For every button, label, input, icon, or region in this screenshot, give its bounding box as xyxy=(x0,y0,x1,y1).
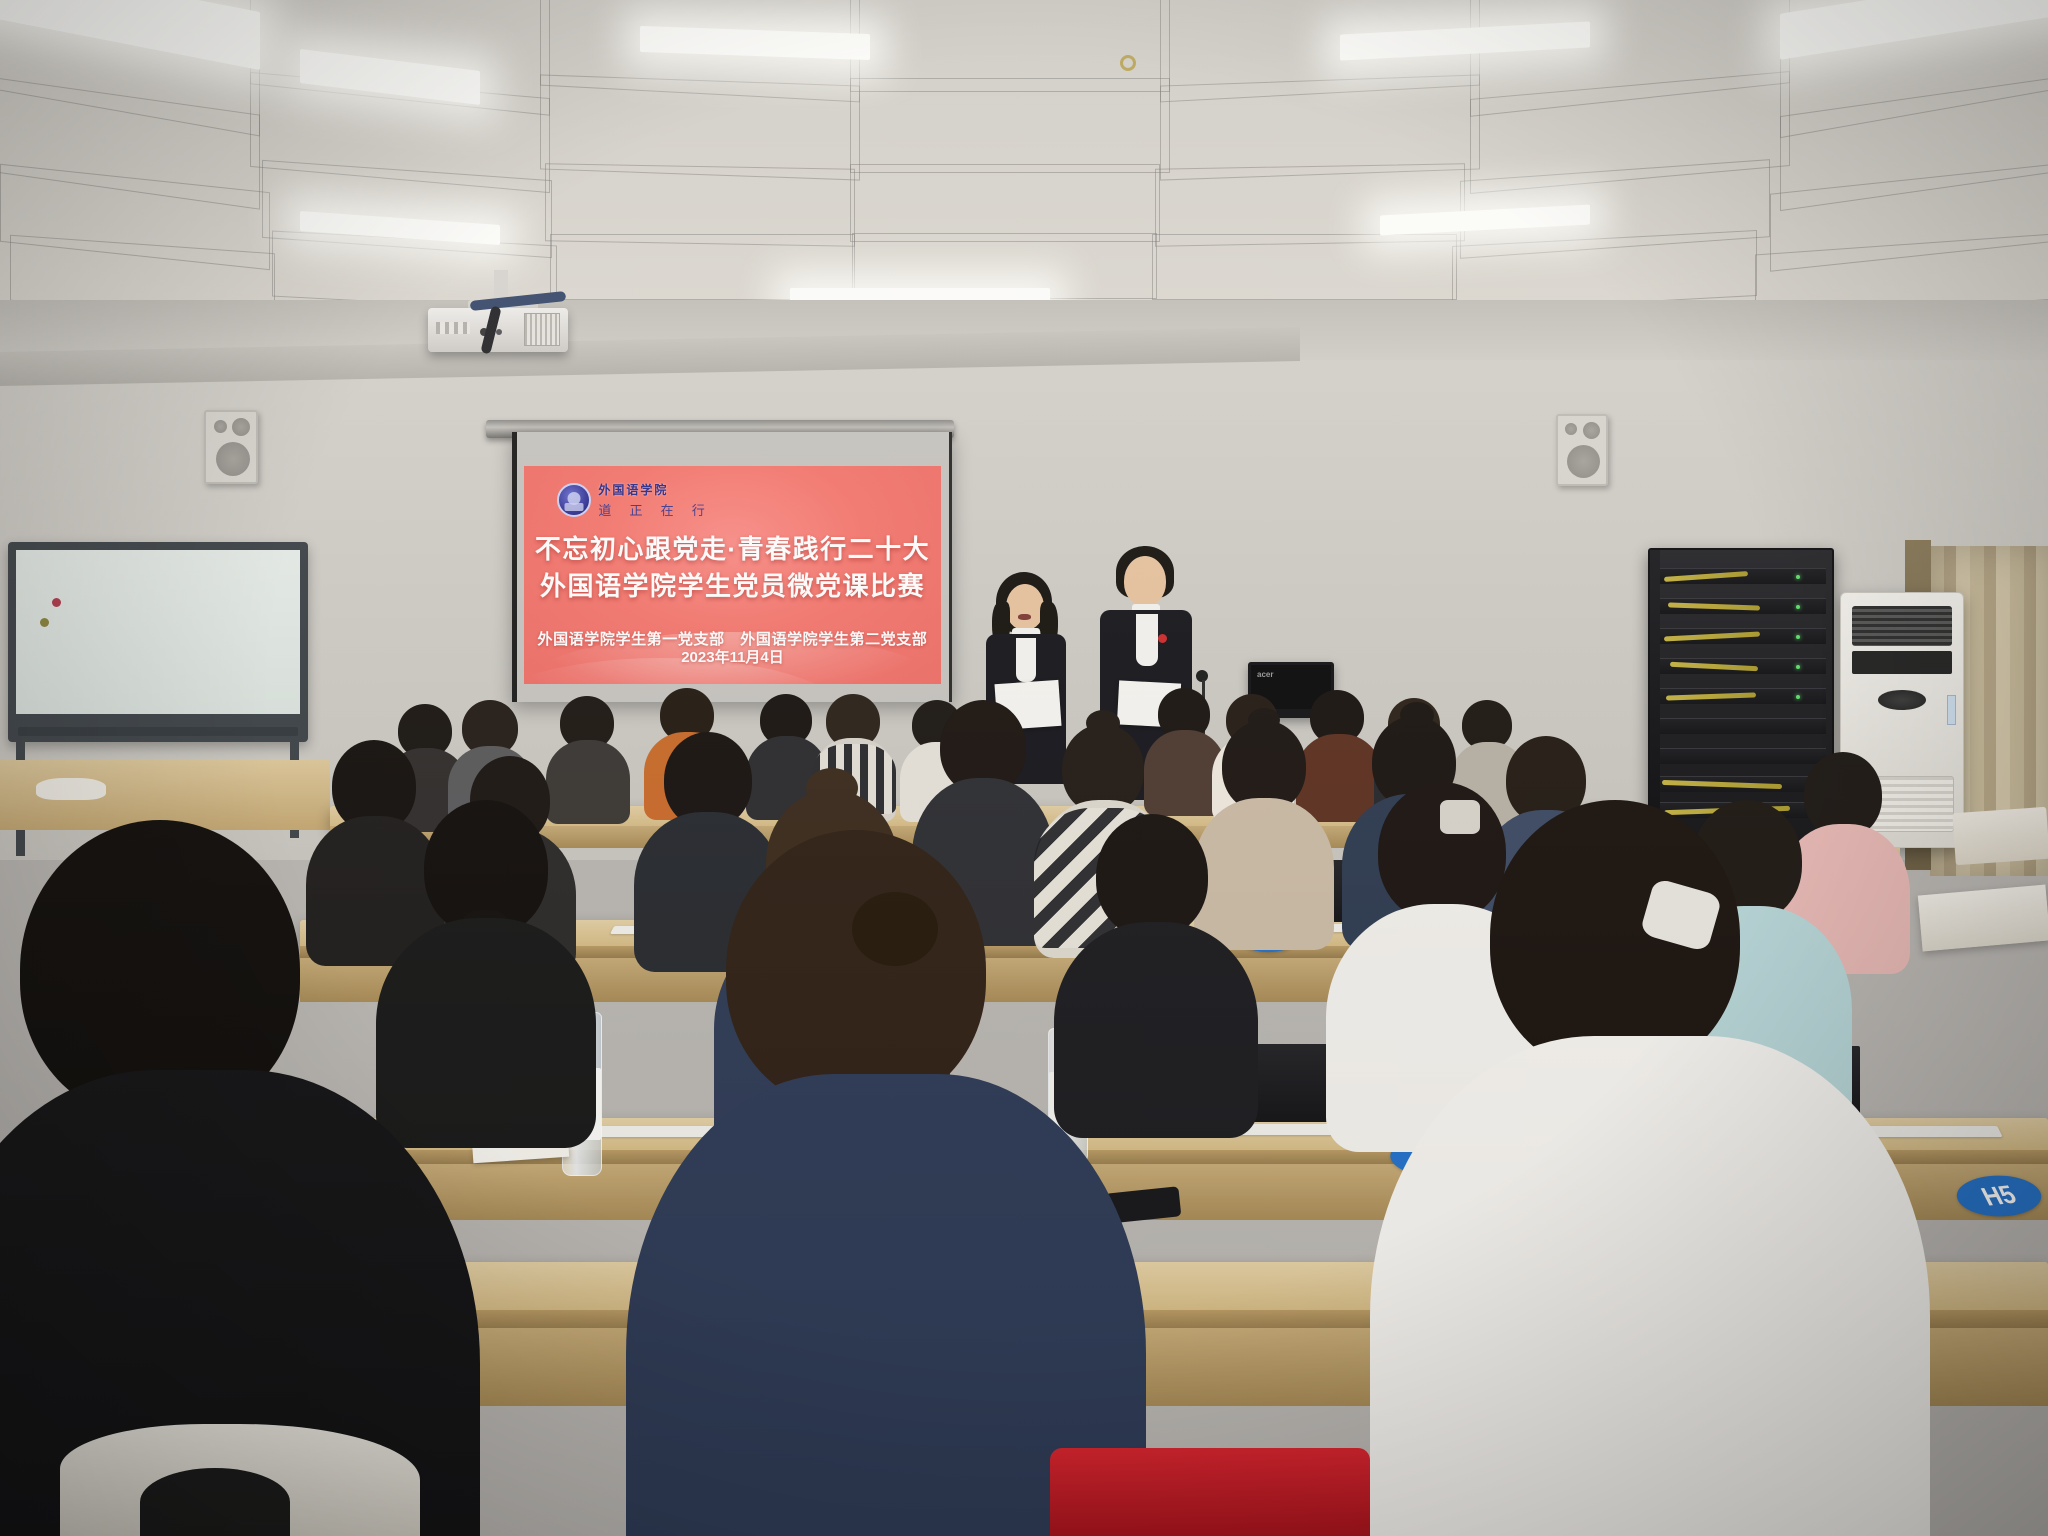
hair-clip-icon xyxy=(1440,800,1480,834)
university-crest-icon xyxy=(557,483,591,517)
slide-logo-calligraphy: 道 正 在 行 xyxy=(598,500,711,519)
hair-bun xyxy=(852,892,938,966)
slide-title-line2: 外国语学院学生党员微党课比赛 xyxy=(524,568,941,605)
wall-speaker-right xyxy=(1556,414,1608,486)
ac-brand-badge xyxy=(1878,690,1927,710)
slide-logo: 外国语学院 道 正 在 行 xyxy=(557,481,711,519)
ac-control-panel xyxy=(1852,651,1952,674)
slide-logo-institution: 外国语学院 xyxy=(598,481,711,498)
desk-label-h5-text: H5 xyxy=(1976,1180,2021,1212)
classroom-photo-scene: 外国语学院 道 正 在 行 不忘初心跟党走·青春践行二十大 外国语学院学生党员微… xyxy=(0,0,2048,1536)
slide-title: 不忘初心跟党走·青春践行二十大 外国语学院学生党员微党课比赛 xyxy=(524,531,941,605)
red-jacket xyxy=(1050,1448,1370,1536)
bag-detail xyxy=(140,1468,290,1536)
monitor-brand-label: acer xyxy=(1257,670,1273,679)
wall-speaker-left xyxy=(204,410,258,484)
ac-energy-label xyxy=(1947,695,1956,725)
drop-ceiling xyxy=(0,0,2048,330)
projection-screen: 外国语学院 道 正 在 行 不忘初心跟党走·青春践行二十大 外国语学院学生党员微… xyxy=(512,432,952,702)
desk-label-g3-text: G3 xyxy=(1254,949,1270,963)
party-badge-icon xyxy=(1158,634,1167,643)
slide-title-line1: 不忘初心跟党走·青春践行二十大 xyxy=(524,531,941,568)
slide-date: 2023年11月4日 xyxy=(524,646,941,667)
ac-air-grill xyxy=(1852,606,1952,647)
presentation-slide: 外国语学院 道 正 在 行 不忘初心跟党走·青春践行二十大 外国语学院学生党员微… xyxy=(524,466,941,684)
whiteboard-surface xyxy=(16,550,300,714)
whiteboard-magnet xyxy=(40,618,49,627)
whiteboard-magnet xyxy=(52,598,61,607)
open-notebook xyxy=(1918,885,2048,952)
whiteboard-marker-tray xyxy=(18,727,298,736)
mobile-whiteboard xyxy=(8,542,308,742)
